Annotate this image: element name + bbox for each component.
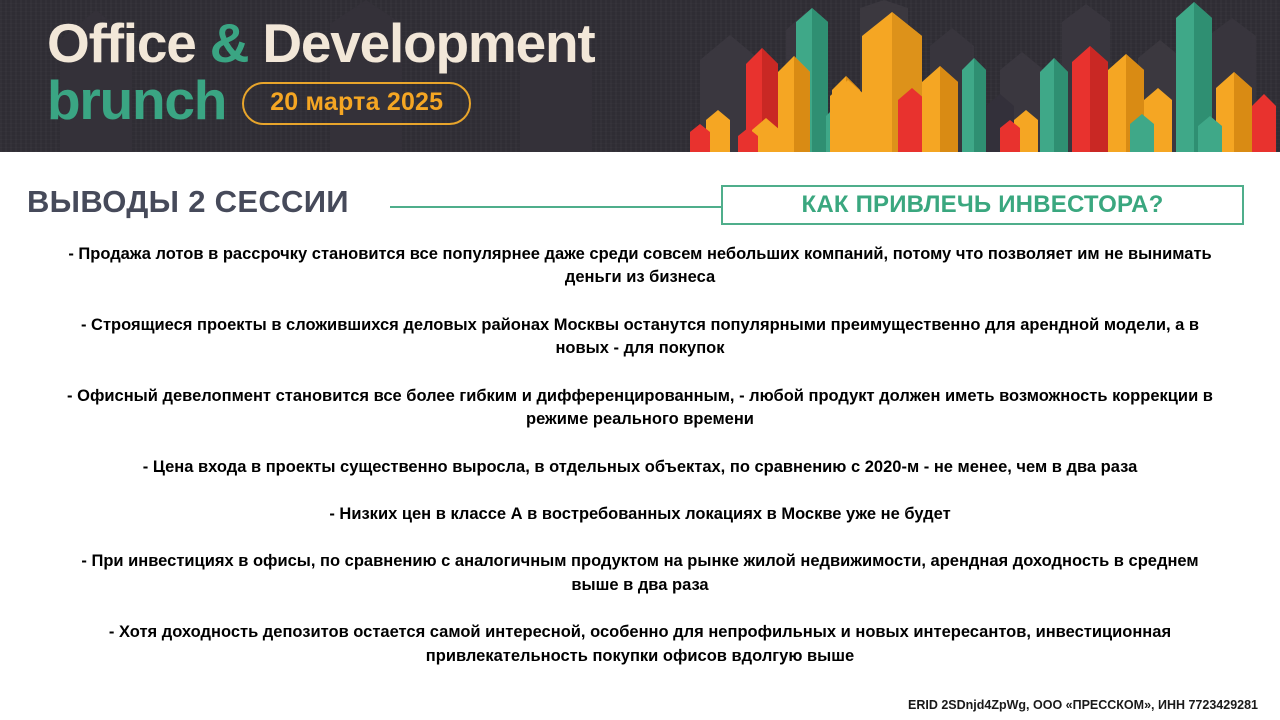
title-connector-rule xyxy=(390,206,721,208)
list-item: - Строящиеся проекты в сложившихся делов… xyxy=(60,314,1220,361)
list-item: - Низких цен в классе А в востребованных… xyxy=(60,503,1220,526)
logo-word-brunch: brunch xyxy=(47,73,226,128)
logo-word-development: Development xyxy=(248,12,594,74)
list-item: - Цена входа в проекты существенно вырос… xyxy=(60,456,1220,479)
conclusions-list: - Продажа лотов в рассрочку становится в… xyxy=(60,243,1220,668)
list-item: - Хотя доходность депозитов остается сам… xyxy=(60,621,1220,668)
skyline-color-buildings xyxy=(690,2,1276,152)
session-question-box: КАК ПРИВЛЕЧЬ ИНВЕСТОРА? xyxy=(721,185,1244,225)
logo-title-line1: Office & Development xyxy=(47,16,595,71)
legal-footer: ERID 2SDnjd4ZpWg, ООО «ПРЕССКОМ», ИНН 77… xyxy=(908,698,1258,712)
logo-word-office: Office xyxy=(47,12,210,74)
event-logo: Office & Development brunch 20 марта 202… xyxy=(47,16,595,128)
event-date-badge: 20 марта 2025 xyxy=(242,82,471,125)
list-item: - При инвестициях в офисы, по сравнению … xyxy=(60,550,1220,597)
page-title: ВЫВОДЫ 2 СЕССИИ xyxy=(27,184,349,220)
header-banner: Office & Development brunch 20 марта 202… xyxy=(0,0,1280,152)
session-question-text: КАК ПРИВЛЕЧЬ ИНВЕСТОРА? xyxy=(801,191,1163,219)
logo-second-row: brunch 20 марта 2025 xyxy=(47,73,595,128)
list-item: - Офисный девелопмент становится все бол… xyxy=(60,385,1220,432)
section-title-row: ВЫВОДЫ 2 СЕССИИ КАК ПРИВЛЕЧЬ ИНВЕСТОРА? xyxy=(0,178,1280,234)
list-item: - Продажа лотов в рассрочку становится в… xyxy=(60,243,1220,290)
logo-ampersand: & xyxy=(210,12,249,74)
